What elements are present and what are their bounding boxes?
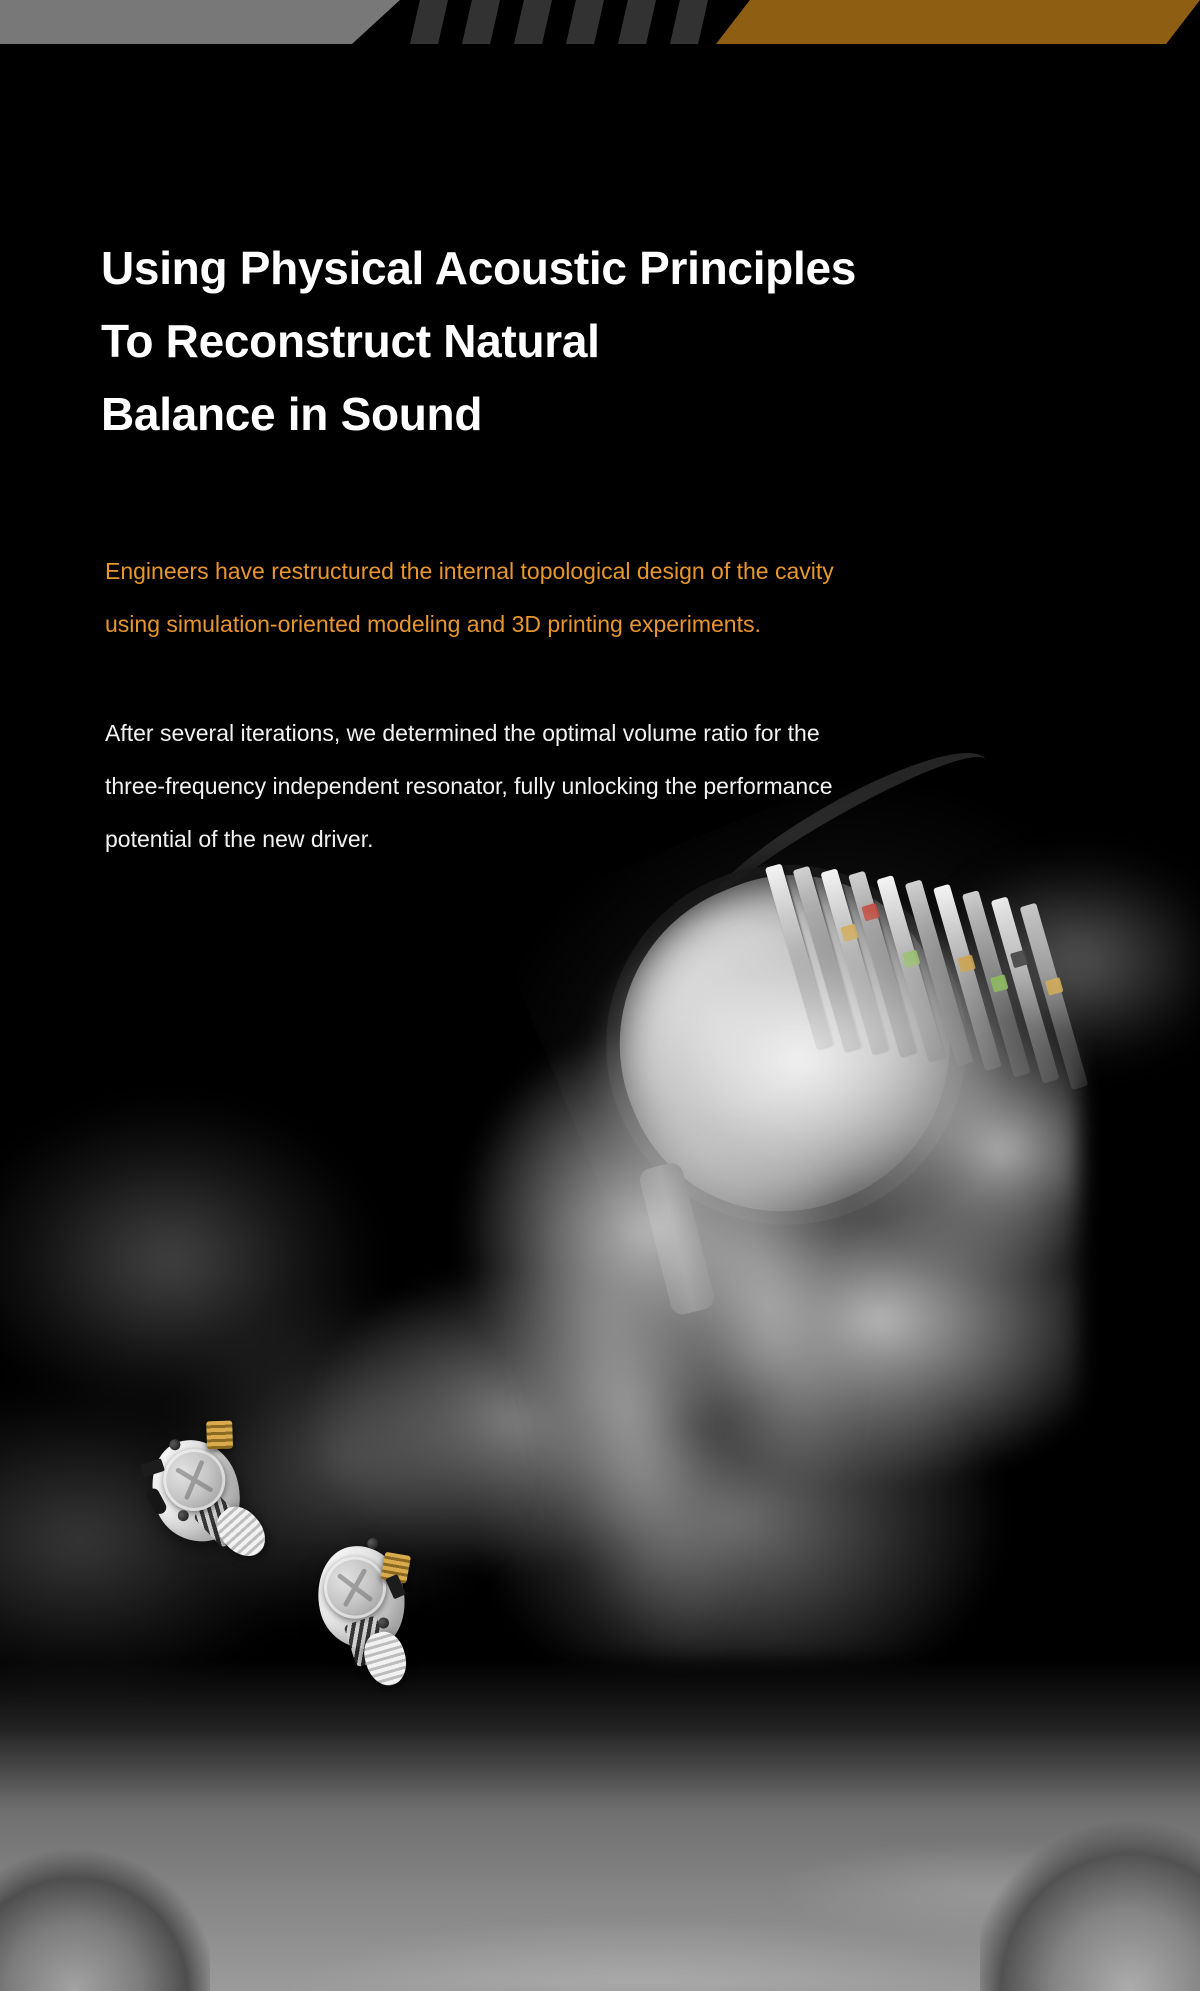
top-decorative-banner: [0, 0, 1200, 46]
page-title: Using Physical Acoustic Principles To Re…: [101, 232, 1041, 451]
body-line-3: potential of the new driver.: [105, 813, 1115, 866]
earbud-x-logo: [332, 1565, 377, 1610]
body-line-1: After several iterations, we determined …: [105, 707, 1115, 760]
headline-line-3: Balance in Sound: [101, 378, 1041, 451]
lede-line-1: Engineers have restructured the internal…: [105, 545, 1105, 598]
body-line-2: three-frequency independent resonator, f…: [105, 760, 1115, 813]
headline-line-1: Using Physical Acoustic Principles: [101, 232, 1041, 305]
banner-grey-bar: [0, 0, 400, 44]
headline-line-2: To Reconstruct Natural: [101, 305, 1041, 378]
body-paragraph: After several iterations, we determined …: [105, 707, 1115, 866]
banner-orange-bar: [716, 0, 1200, 44]
banner-stripe-group: [410, 0, 720, 44]
lede-paragraph: Engineers have restructured the internal…: [105, 545, 1105, 651]
lede-line-2: using simulation-oriented modeling and 3…: [105, 598, 1105, 651]
earbud-x-logo: [170, 1456, 218, 1504]
smoke-plume-left: [0, 1080, 620, 1720]
